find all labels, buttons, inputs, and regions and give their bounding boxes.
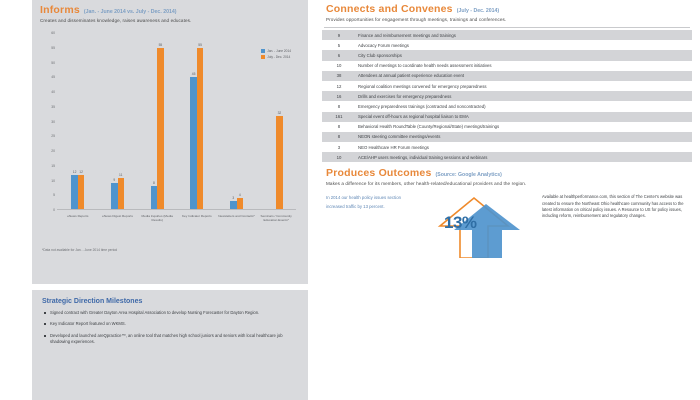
chart-bar-value: 32 <box>278 111 282 115</box>
metric-label: ACE/AHP users meetings, individual train… <box>356 152 692 162</box>
informs-header: Informs (Jan. - June 2014 vs. July - Dec… <box>40 5 300 16</box>
milestones-title: Strategic Direction Milestones <box>42 298 298 305</box>
chart-footnote: *Data not available for Jan. - June 2014… <box>40 248 300 252</box>
metric-label: Advocacy Forum meetings <box>356 40 692 50</box>
chart-y-tick: 60 <box>51 31 55 35</box>
metric-label: Finance and reimbursement meetings and t… <box>356 30 692 40</box>
table-row: 10ACE/AHP users meetings, individual tra… <box>322 152 692 162</box>
arrow-outline-icon <box>426 196 530 258</box>
outcomes-body: In 2014 our health policy issues section… <box>326 194 692 254</box>
chart-x-label: eNews Reports <box>58 212 98 246</box>
milestones-list: Signed contract with Greater Dayton Area… <box>42 310 298 345</box>
chart-bar: 11 <box>118 178 125 210</box>
outcomes-percent: 13% <box>444 213 477 233</box>
chart-bar-value: 8 <box>153 181 155 185</box>
chart-y-tick: 10 <box>51 179 55 183</box>
metric-count: 10 <box>322 152 356 162</box>
left-column: Informs (Jan. - June 2014 vs. July - Dec… <box>0 0 318 400</box>
outcomes-subtitle: Makes a difference for its members, othe… <box>326 181 692 186</box>
table-row: 8Emergency preparedness trainings (contr… <box>322 101 692 111</box>
chart-x-label: Key Indicator Reports <box>177 212 217 246</box>
table-row: 38Attendees at annual patient experience… <box>322 71 692 81</box>
chart-x-label: Newsletters and Contacts* <box>217 212 257 246</box>
chart-bar-group: 34 <box>217 33 257 210</box>
table-row: 6City Club sponsorships <box>322 50 692 60</box>
outcomes-left-text: In 2014 our health policy issues section… <box>326 194 412 211</box>
metric-label: Behavioral Health RoundTable (County/Reg… <box>356 122 692 132</box>
informs-title: Informs <box>40 5 80 16</box>
chart-bar-value: 4 <box>239 193 241 197</box>
chart-y-tick: 55 <box>51 46 55 50</box>
chart-y-tick: 25 <box>51 134 55 138</box>
metric-label: NEO Healthcare HR Forum meetings <box>356 142 692 152</box>
connects-subtitle: Provides opportunities for engagement th… <box>326 17 692 22</box>
metric-count: 8 <box>322 101 356 111</box>
connects-title: Connects and Convenes <box>326 4 453 15</box>
chart-y-tick: 40 <box>51 90 55 94</box>
table-row: 3NEO Healthcare HR Forum meetings <box>322 142 692 152</box>
chart-bar-value: 45 <box>192 72 196 76</box>
chart-bar: 55 <box>197 48 204 210</box>
table-row: 10Number of meetings to coordinate healt… <box>322 61 692 71</box>
chart-bar-value: 9 <box>113 178 115 182</box>
table-row: 161Special event off-hours as regional h… <box>322 112 692 122</box>
outcomes-title: Produces Outcomes <box>326 168 432 179</box>
metric-label: Drills and exercises for emergency prepa… <box>356 91 692 101</box>
metric-count: 8 <box>322 122 356 132</box>
milestone-item: Developed and launched areQpractice™, an… <box>42 333 298 346</box>
chart-legend: Jan. - June 2014July - Dec. 2014 <box>258 47 294 63</box>
chart-y-tick: 0 <box>53 208 55 212</box>
connects-header: Connects and Convenes (July - Dec. 2014)… <box>322 4 692 22</box>
metric-count: 12 <box>322 81 356 91</box>
chart-bar: 32 <box>276 116 283 210</box>
metric-count: 38 <box>322 71 356 81</box>
metric-label: Emergency preparedness trainings (contra… <box>356 101 692 111</box>
outcomes-source: (Source: Google Analytics) <box>436 173 502 178</box>
table-row: 8NEON steering committee meetings/events <box>322 132 692 142</box>
informs-dates: (Jan. - June 2014 vs. July - Dec. 2014) <box>84 10 177 15</box>
chart-bar-group: 4555 <box>177 33 217 210</box>
chart-x-labels: eNews ReportseNews Digest ReportsMedia I… <box>58 212 296 246</box>
infographic-page: Informs (Jan. - June 2014 vs. July - Dec… <box>0 0 700 400</box>
chart-x-label: Seminars / Community Education Events* <box>256 212 296 246</box>
chart-y-tick: 50 <box>51 61 55 65</box>
chart-bar: 55 <box>157 48 164 210</box>
chart-y-tick: 15 <box>51 164 55 168</box>
legend-label: Jan. - June 2014 <box>267 49 291 53</box>
chart-bar-value: 55 <box>159 43 163 47</box>
chart-bar: 12 <box>78 175 85 210</box>
chart-bar-value: 3 <box>232 196 234 200</box>
chart-legend-item: Jan. - June 2014 <box>261 49 291 53</box>
metric-count: 3 <box>322 142 356 152</box>
chart-bar-value: 11 <box>119 173 122 177</box>
outcomes-right-text: Available at healthperformance.com, this… <box>542 194 692 219</box>
informs-panel: Informs (Jan. - June 2014 vs. July - Dec… <box>32 0 308 284</box>
legend-label: July - Dec. 2014 <box>267 55 290 59</box>
chart-x-label: eNews Digest Reports <box>98 212 138 246</box>
connects-dates: (July - Dec. 2014) <box>457 9 499 14</box>
milestone-item: Signed contract with Greater Dayton Area… <box>42 310 298 316</box>
chart-bar-group: 911 <box>98 33 138 210</box>
chart-y-axis: 051015202530354045505560 <box>40 33 57 210</box>
table-row: 9Finance and reimbursement meetings and … <box>322 30 692 40</box>
chart-x-axis-line <box>57 209 296 210</box>
metric-count: 161 <box>322 112 356 122</box>
up-arrow-icon: 13% <box>426 196 530 258</box>
informs-bar-chart: 051015202530354045505560 121291185545553… <box>40 31 300 246</box>
metric-count: 16 <box>322 91 356 101</box>
connects-metrics-table: 9Finance and reimbursement meetings and … <box>322 30 692 162</box>
metric-count: 8 <box>322 132 356 142</box>
chart-y-tick: 5 <box>53 193 55 197</box>
legend-swatch-icon <box>261 49 265 53</box>
chart-y-tick: 20 <box>51 149 55 153</box>
metric-label: City Club sponsorships <box>356 50 692 60</box>
legend-swatch-icon <box>261 55 265 59</box>
right-column: Connects and Convenes (July - Dec. 2014)… <box>318 0 700 400</box>
table-row: 8Behavioral Health RoundTable (County/Re… <box>322 122 692 132</box>
table-row: 12Regional coalition meetings convened f… <box>322 81 692 91</box>
milestone-item: Key Indicator Report featured on WKMS. <box>42 321 298 327</box>
chart-y-tick: 45 <box>51 75 55 79</box>
chart-bar-group: 855 <box>137 33 177 210</box>
table-row: 16Drills and exercises for emergency pre… <box>322 91 692 101</box>
metric-count: 9 <box>322 30 356 40</box>
metric-label: Regional coalition meetings convened for… <box>356 81 692 91</box>
chart-bar-value: 12 <box>73 170 77 174</box>
chart-x-label: Media Inquiries (Media Results) <box>137 212 177 246</box>
metric-count: 10 <box>322 61 356 71</box>
outcomes-section: Produces Outcomes (Source: Google Analyt… <box>322 168 692 254</box>
milestones-panel: Strategic Direction Milestones Signed co… <box>32 290 308 400</box>
chart-bar-value: 55 <box>198 43 202 47</box>
metric-label: Attendees at annual patient experience e… <box>356 71 692 81</box>
metric-label: NEON steering committee meetings/events <box>356 132 692 142</box>
chart-y-tick: 30 <box>51 120 55 124</box>
metric-count: 6 <box>322 50 356 60</box>
chart-bar-group: 1212 <box>58 33 98 210</box>
metric-label: Number of meetings to coordinate health … <box>356 61 692 71</box>
metric-label: Special event off-hours as regional hosp… <box>356 112 692 122</box>
chart-bar-value: 12 <box>79 170 83 174</box>
chart-legend-item: July - Dec. 2014 <box>261 55 291 59</box>
metric-count: 5 <box>322 40 356 50</box>
table-row: 5Advocacy Forum meetings <box>322 40 692 50</box>
informs-subtitle: Creates and disseminates knowledge, rais… <box>40 18 300 23</box>
outcomes-graphic: 13% <box>418 194 536 254</box>
chart-y-tick: 35 <box>51 105 55 109</box>
connects-divider <box>324 27 690 28</box>
